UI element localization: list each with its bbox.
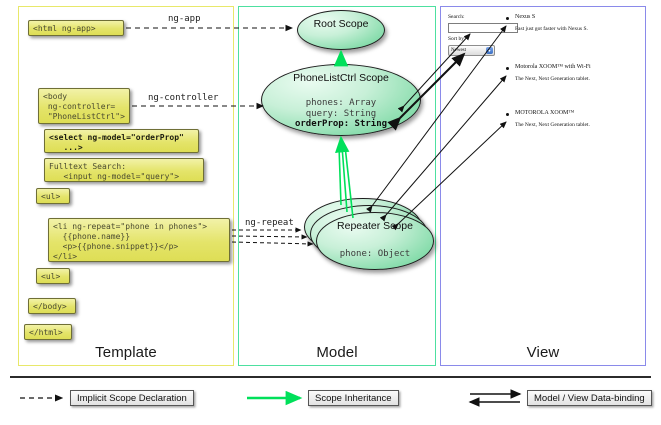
code-box-select-tag: <select ng-model="orderProp" ...> [44, 129, 199, 153]
code-box-body-open: <body ng-controller= "PhoneListCtrl"> [38, 88, 130, 124]
scope-phonelistctrl-title: PhoneListCtrl Scope [262, 72, 420, 84]
view-phone-snippet: Fast just got faster with Nexus S. [515, 26, 588, 32]
view-search-input[interactable] [448, 23, 518, 33]
props-plain: phones: Array query: String [306, 98, 376, 119]
scope-repeater: Repeater Scope phone: Object [316, 212, 434, 270]
props-bold: orderProp: String [295, 119, 387, 129]
legend-model-view-data-binding: Model / View Data-binding [527, 390, 652, 406]
scope-root-title: Root Scope [298, 18, 384, 30]
scope-repeater-props: phone: Object [317, 249, 433, 260]
view-search-label: Search: [448, 14, 465, 20]
view-phone-name: MOTOROLA XOOM™ [515, 110, 574, 116]
code-box-html-close: </html> [24, 324, 72, 340]
scope-root: Root Scope [297, 10, 385, 50]
bullet-icon [506, 113, 509, 116]
view-phone-name: Nexus S [515, 14, 535, 20]
panel-model-label: Model [239, 344, 435, 361]
view-sort-select[interactable]: Newest▾ [448, 45, 495, 56]
bullet-icon [506, 17, 509, 20]
chevron-updown-icon: ▾ [486, 47, 493, 54]
edge-label-ng-controller: ng-controller [148, 93, 218, 103]
view-phone-snippet: The Next, Next Generation tablet. [515, 76, 590, 82]
angularjs-scope-diagram: Template Model View <html ng-app> <body … [0, 0, 661, 425]
code-box-body-close: </body> [28, 298, 76, 314]
scope-phonelistctrl: PhoneListCtrl Scope phones: Array query:… [261, 64, 421, 136]
panel-view-label: View [441, 344, 645, 361]
scope-phonelistctrl-props: phones: Array query: String orderProp: S… [262, 98, 420, 130]
edge-label-ng-repeat: ng-repeat [245, 218, 294, 228]
panel-model: Model [238, 6, 436, 366]
view-browser-mock: Search: Sort by: Newest▾ Nexus S Fast ju… [448, 14, 640, 114]
legend-divider [10, 376, 651, 378]
code-box-html-open: <html ng-app> [28, 20, 124, 36]
code-box-ul-open: <ul> [36, 188, 70, 204]
scope-repeater-title: Repeater Scope [317, 220, 433, 232]
bullet-icon [506, 67, 509, 70]
view-sort-label: Sort by: [448, 36, 466, 42]
panel-template-label: Template [19, 344, 233, 361]
legend-implicit-scope-declaration: Implicit Scope Declaration [70, 390, 194, 406]
view-phone-snippet: The Next, Next Generation tablet. [515, 122, 590, 128]
code-box-li-repeat: <li ng-repeat="phone in phones"> {{phone… [48, 218, 230, 262]
code-box-search-input: Fulltext Search: <input ng-model="query"… [44, 158, 204, 182]
view-phone-name: Motorola XOOM™ with Wi-Fi [515, 64, 591, 70]
edge-label-ng-app: ng-app [168, 14, 201, 24]
legend-scope-inheritance: Scope Inheritance [308, 390, 399, 406]
view-sort-selected-value: Newest [451, 48, 466, 53]
code-box-ul-close: <ul> [36, 268, 70, 284]
